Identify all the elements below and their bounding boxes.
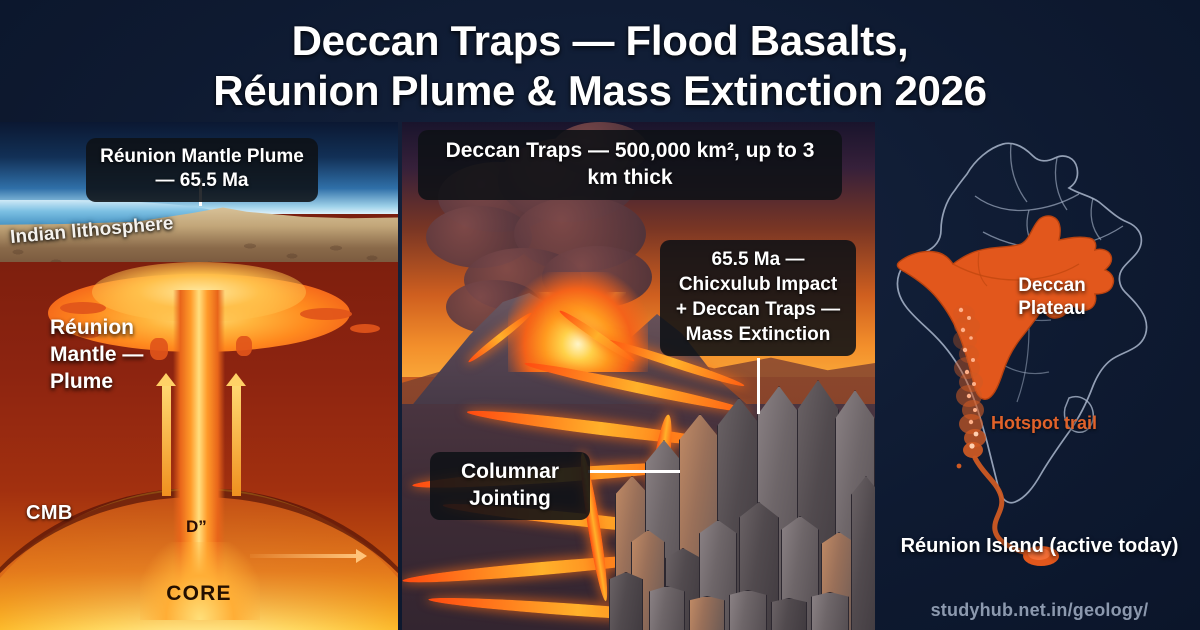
panel-mantle-cross-section: Indian lithosphere Réunion Mantle — Plum… <box>0 122 398 630</box>
label-plume-line-2: Mantle — <box>50 341 143 368</box>
callout-columnar-jointing: Columnar Jointing <box>430 452 590 520</box>
label-core: CORE <box>0 582 398 606</box>
label-reunion-island: Réunion Island (active today) <box>879 534 1200 559</box>
mantle-blob <box>236 336 252 356</box>
callout-leader-line <box>757 358 760 414</box>
basalt-column <box>851 476 875 630</box>
label-cmb: CMB <box>26 502 73 525</box>
basalt-column <box>609 572 643 630</box>
basalt-column <box>729 590 767 630</box>
mantle-blob <box>150 338 168 360</box>
callout-mass-extinction: 65.5 Ma — Chicxulub Impact + Deccan Trap… <box>660 240 856 356</box>
label-plume-line-1: Réunion <box>50 314 143 341</box>
callout-reunion-plume: Réunion Mantle Plume — 65.5 Ma <box>86 138 318 202</box>
mantle-blob <box>60 302 106 314</box>
cmb-flow-arrow <box>250 554 358 558</box>
basalt-column <box>649 586 685 630</box>
panel-eruption-scene: Deccan Traps — 500,000 km², up to 3 km t… <box>402 122 875 630</box>
site-watermark: studyhub.net.in/geology/ <box>879 600 1200 621</box>
callout-deccan-extent: Deccan Traps — 500,000 km², up to 3 km t… <box>418 130 842 200</box>
plume-stem-base <box>140 542 260 620</box>
title-line-1: Deccan Traps — Flood Basalts, <box>292 16 909 66</box>
basalt-column <box>689 596 725 630</box>
label-reunion-mantle-plume: Réunion Mantle — Plume <box>50 314 143 395</box>
title-line-2: Réunion Plume & Mass Extinction 2026 <box>213 66 986 116</box>
page-title: Deccan Traps — Flood Basalts, Réunion Pl… <box>0 12 1200 120</box>
basalt-column <box>771 598 807 630</box>
infographic-root: Deccan Traps — Flood Basalts, Réunion Pl… <box>0 0 1200 630</box>
mantle-blob <box>300 308 352 320</box>
columnar-basalt-group <box>609 380 875 630</box>
label-plume-line-3: Plume <box>50 368 143 395</box>
mantle-blob <box>350 324 380 333</box>
panel-india-map: Deccan Plateau Hotspot trail Réunion Isl… <box>879 122 1200 630</box>
label-d-double-prime: D” <box>186 517 207 537</box>
label-deccan-plateau: Deccan Plateau <box>987 274 1117 320</box>
upwelling-arrow <box>162 384 171 496</box>
label-hotspot-trail: Hotspot trail <box>989 412 1099 434</box>
upwelling-arrow <box>232 384 241 496</box>
callout-leader-line <box>588 470 680 473</box>
basalt-column <box>811 592 849 630</box>
